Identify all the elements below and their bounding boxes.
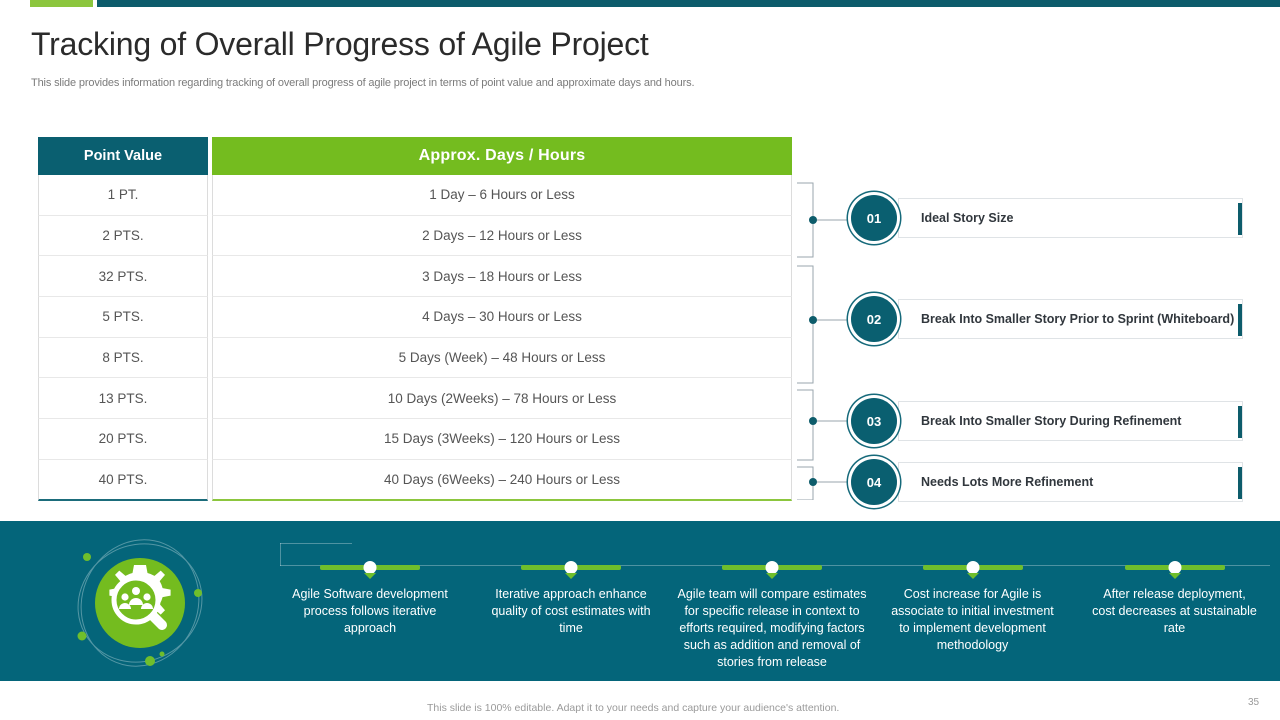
cell-point-value: 5 PTS. — [38, 297, 208, 338]
cell-approx: 40 Days (6Weeks) – 240 Hours or Less — [212, 460, 792, 501]
callout-card-01[interactable]: Ideal Story Size — [898, 198, 1243, 238]
column-header-approx-days-hours: Approx. Days / Hours — [212, 137, 792, 175]
step-badge-number: 04 — [867, 475, 881, 490]
point-value-table: Point Value Approx. Days / Hours 1 PT. 1… — [38, 137, 792, 501]
callout-card-label: Ideal Story Size — [899, 210, 1013, 226]
table-row: 1 PT. 1 Day – 6 Hours or Less — [38, 175, 792, 216]
step-badge-number: 02 — [867, 312, 881, 327]
connector-node-dot — [809, 478, 817, 486]
footer-note: This slide is 100% editable. Adapt it to… — [427, 702, 839, 714]
table-row: 8 PTS. 5 Days (Week) – 48 Hours or Less — [38, 338, 792, 379]
bullet-pointer-icon — [766, 573, 778, 579]
band-connector-elbow-horizontal — [280, 543, 352, 544]
cell-approx: 10 Days (2Weeks) – 78 Hours or Less — [212, 378, 792, 419]
callout-card-02[interactable]: Break Into Smaller Story Prior to Sprint… — [898, 299, 1243, 339]
table-row: 2 PTS. 2 Days – 12 Hours or Less — [38, 216, 792, 257]
step-badge-02[interactable]: 02 — [851, 296, 897, 342]
band-bullet-text: Agile team will compare estimates for sp… — [672, 582, 872, 670]
band-bullet-3: Agile team will compare estimates for sp… — [672, 582, 872, 670]
step-badge-03[interactable]: 03 — [851, 398, 897, 444]
card-accent-bar — [1238, 203, 1242, 235]
table-header-row: Point Value Approx. Days / Hours — [38, 137, 792, 175]
table-row: 5 PTS. 4 Days – 30 Hours or Less — [38, 297, 792, 338]
band-bullet-text: Iterative approach enhance quality of co… — [491, 582, 651, 637]
band-bullet-text: Cost increase for Agile is associate to … — [890, 582, 1055, 654]
callout-card-label: Needs Lots More Refinement — [899, 474, 1093, 490]
bracket-connectors — [795, 180, 855, 500]
cell-point-value: 2 PTS. — [38, 216, 208, 257]
cell-point-value: 32 PTS. — [38, 256, 208, 297]
step-badge-number: 03 — [867, 414, 881, 429]
band-bullet-5: After release deployment, cost decreases… — [1092, 582, 1257, 637]
band-bullet-text: After release deployment, cost decreases… — [1092, 582, 1257, 637]
cell-approx: 2 Days – 12 Hours or Less — [212, 216, 792, 257]
bullet-pointer-icon — [565, 573, 577, 579]
agile-process-icon-area — [62, 535, 222, 675]
cell-approx: 5 Days (Week) – 48 Hours or Less — [212, 338, 792, 379]
column-header-point-value: Point Value — [38, 137, 208, 175]
callout-card-label: Break Into Smaller Story Prior to Sprint… — [899, 311, 1234, 327]
page-number-label: 35 — [1248, 697, 1259, 708]
bullet-pointer-icon — [364, 573, 376, 579]
band-bullet-text: Agile Software development process follo… — [290, 582, 450, 637]
cell-point-value: 40 PTS. — [38, 460, 208, 501]
connector-node-dot — [809, 417, 817, 425]
band-bullet-4: Cost increase for Agile is associate to … — [890, 582, 1055, 654]
table-row: 20 PTS. 15 Days (3Weeks) – 120 Hours or … — [38, 419, 792, 460]
step-badge-04[interactable]: 04 — [851, 459, 897, 505]
card-accent-bar — [1238, 467, 1242, 499]
callout-card-03[interactable]: Break Into Smaller Story During Refineme… — [898, 401, 1243, 441]
cell-point-value: 20 PTS. — [38, 419, 208, 460]
page-title: Tracking of Overall Progress of Agile Pr… — [31, 26, 649, 63]
page-subtitle: This slide provides information regardin… — [31, 77, 694, 89]
cell-approx: 15 Days (3Weeks) – 120 Hours or Less — [212, 419, 792, 460]
connector-node-dot — [809, 316, 817, 324]
band-bullet-2: Iterative approach enhance quality of co… — [491, 582, 651, 637]
connector-lines-svg — [795, 180, 855, 500]
cell-point-value: 13 PTS. — [38, 378, 208, 419]
connector-node-dot — [809, 216, 817, 224]
bullet-pointer-icon — [967, 573, 979, 579]
cell-approx: 4 Days – 30 Hours or Less — [212, 297, 792, 338]
cell-point-value: 1 PT. — [38, 175, 208, 216]
cell-point-value: 8 PTS. — [38, 338, 208, 379]
table-row: 32 PTS. 3 Days – 18 Hours or Less — [38, 256, 792, 297]
accent-bar-green — [30, 0, 93, 7]
step-badge-number: 01 — [867, 211, 881, 226]
band-bullet-1: Agile Software development process follo… — [290, 582, 450, 637]
step-badge-01[interactable]: 01 — [851, 195, 897, 241]
card-accent-bar — [1238, 406, 1242, 438]
callout-card-label: Break Into Smaller Story During Refineme… — [899, 413, 1181, 429]
table-body: 1 PT. 1 Day – 6 Hours or Less 2 PTS. 2 D… — [38, 175, 792, 501]
band-connector-elbow-vertical — [280, 543, 281, 566]
accent-bar-teal — [97, 0, 1280, 7]
callout-card-04[interactable]: Needs Lots More Refinement — [898, 462, 1243, 502]
card-accent-bar — [1238, 304, 1242, 336]
table-row: 13 PTS. 10 Days (2Weeks) – 78 Hours or L… — [38, 378, 792, 419]
gear-magnifier-people-icon — [62, 535, 222, 675]
bullet-pointer-icon — [1169, 573, 1181, 579]
table-row: 40 PTS. 40 Days (6Weeks) – 240 Hours or … — [38, 460, 792, 501]
cell-approx: 1 Day – 6 Hours or Less — [212, 175, 792, 216]
cell-approx: 3 Days – 18 Hours or Less — [212, 256, 792, 297]
